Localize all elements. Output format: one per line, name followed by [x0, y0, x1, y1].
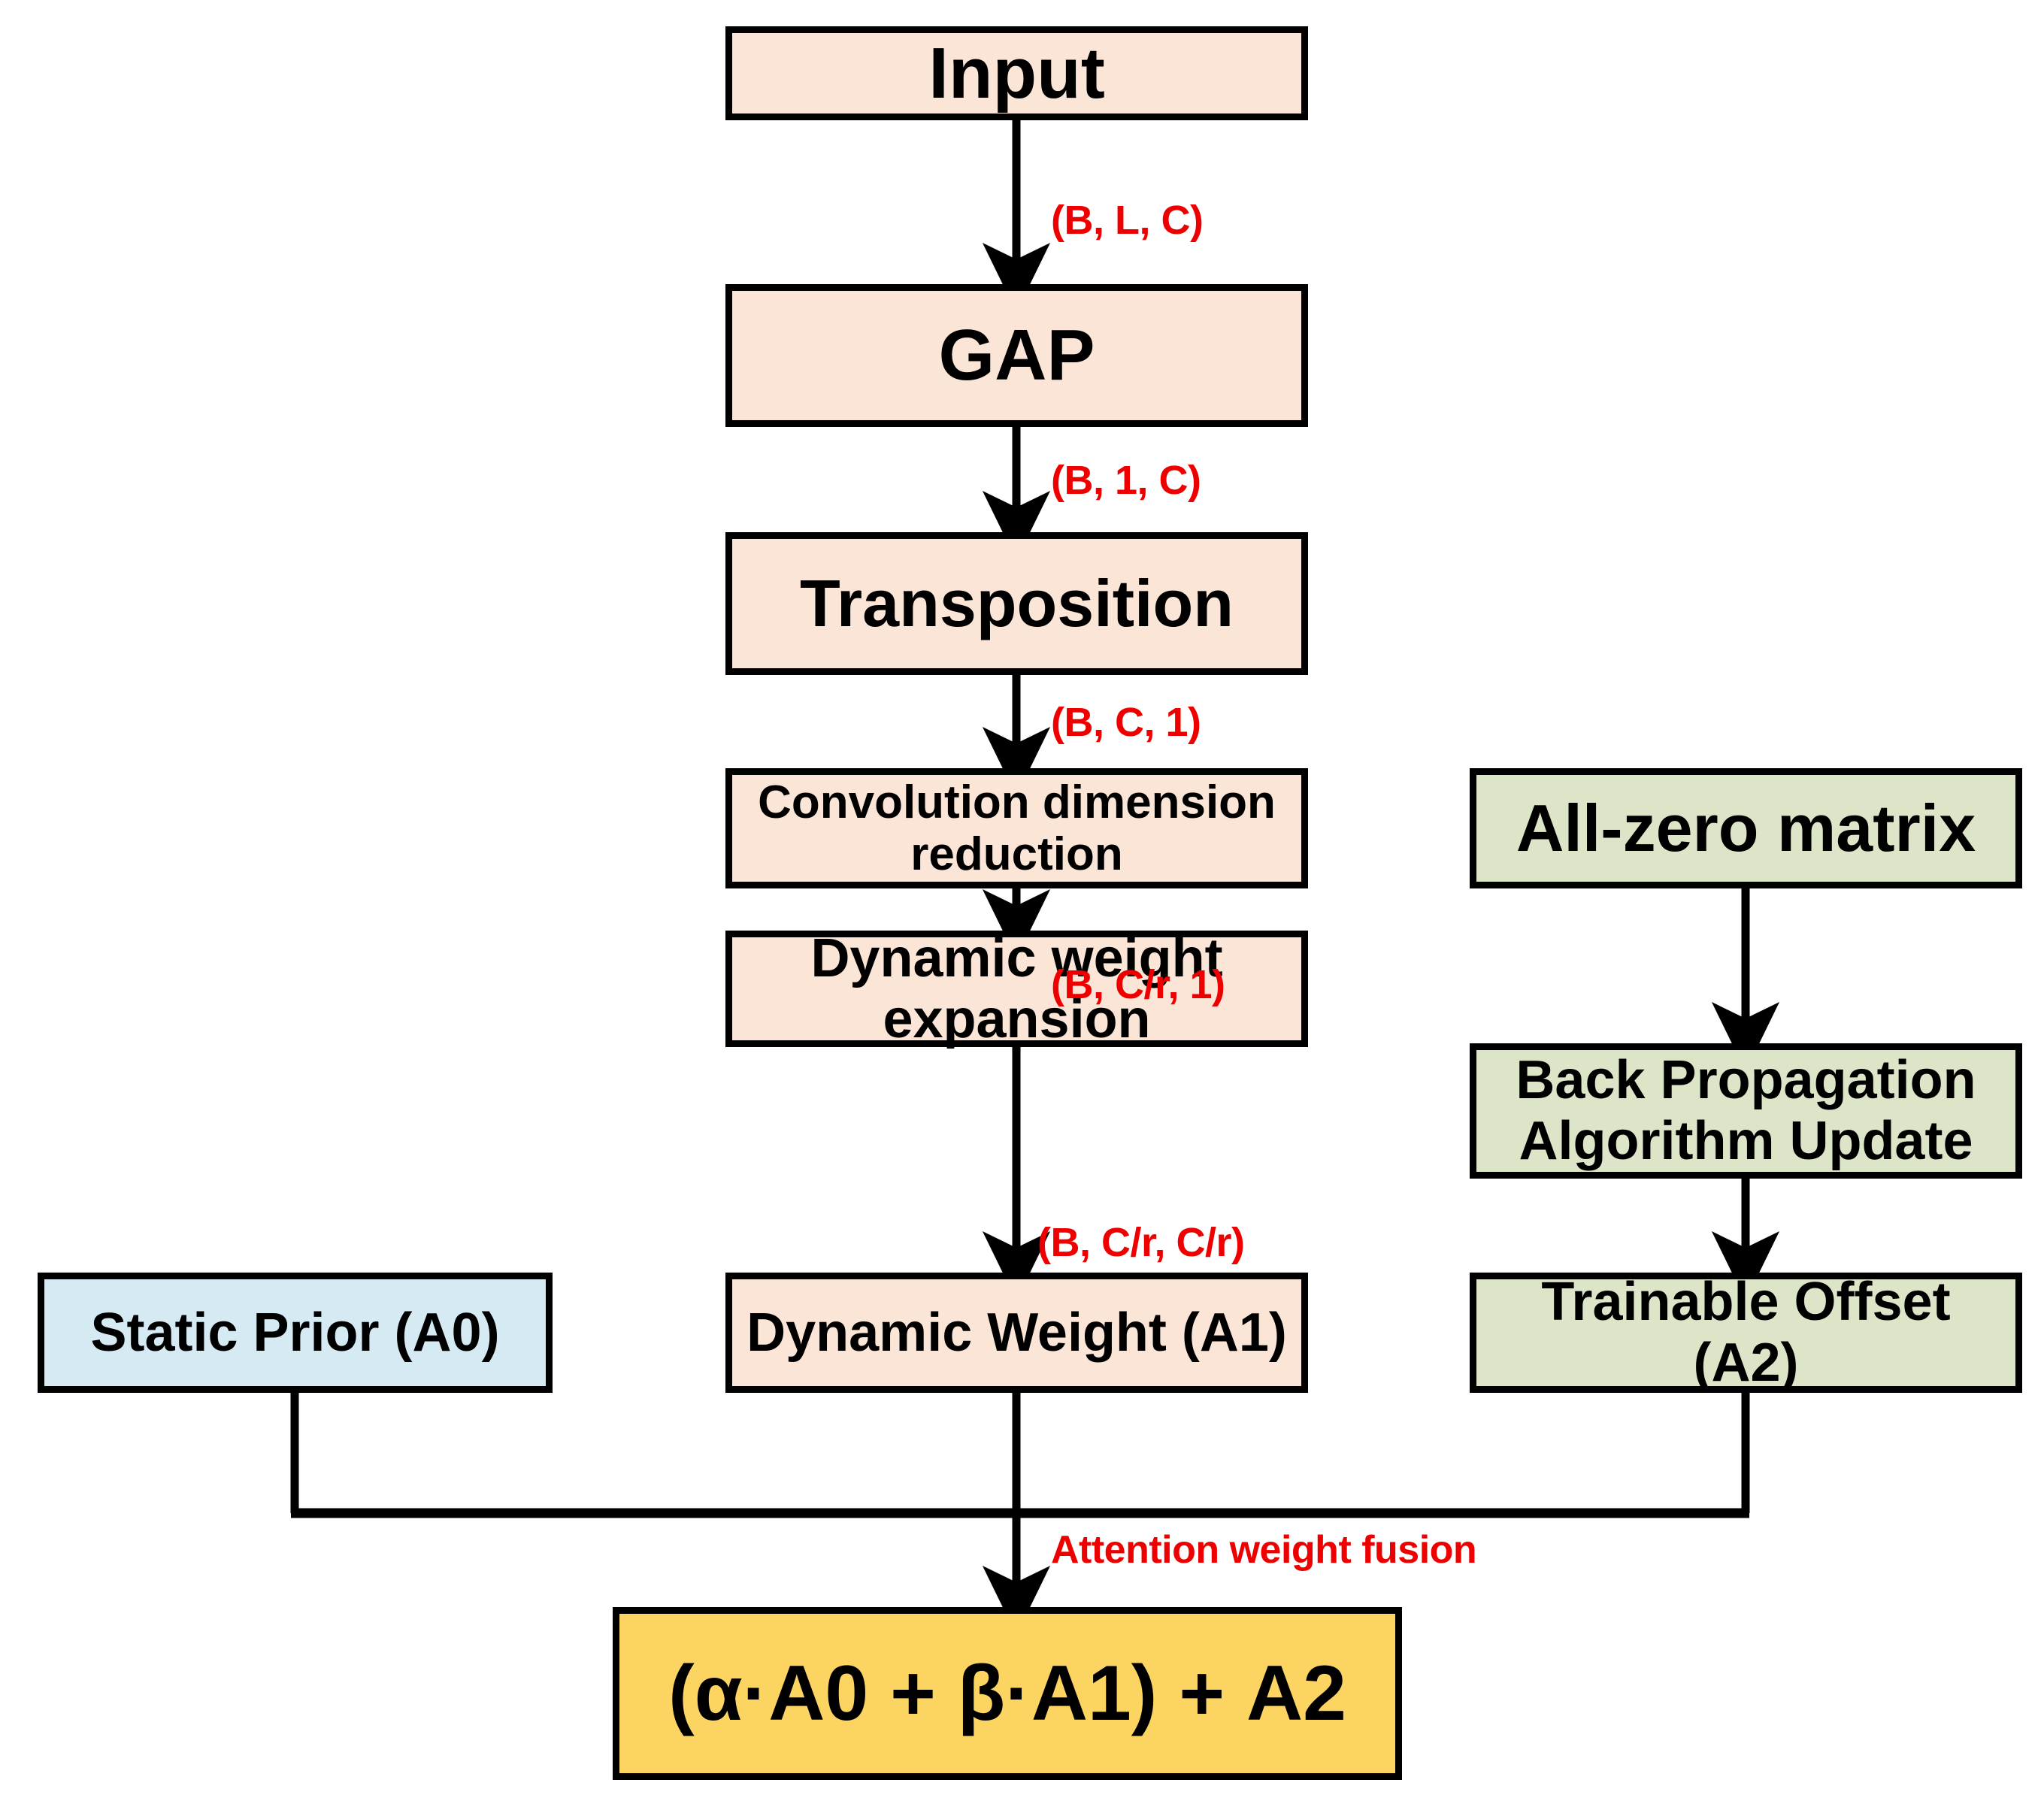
node-static-prior-a0-label: Static Prior (A0)	[90, 1303, 499, 1364]
node-gap[interactable]: GAP	[725, 284, 1308, 427]
node-dynamic-weight-a1[interactable]: Dynamic Weight (A1)	[725, 1273, 1308, 1393]
edge-label-expansion-to-a1: (B, C/r, C/r)	[1037, 1219, 1245, 1266]
node-trainable-offset-a2-label: Trainable Offset (A2)	[1484, 1272, 2008, 1393]
node-trainable-offset-a2[interactable]: Trainable Offset (A2)	[1470, 1273, 2022, 1393]
node-back-propagation-update-label: Back Propagation Algorithm Update	[1484, 1050, 2008, 1171]
edge-label-attention-weight-fusion: Attention weight fusion	[1051, 1527, 1476, 1572]
node-gap-label: GAP	[938, 315, 1095, 396]
node-input[interactable]: Input	[725, 26, 1308, 120]
node-all-zero-matrix-label: All-zero matrix	[1516, 792, 1976, 866]
edge-label-transposition-to-conv: (B, C, 1)	[1051, 699, 1201, 746]
node-fusion-result-label: (α·A0 + β·A1) + A2	[668, 1650, 1346, 1737]
node-back-propagation-update[interactable]: Back Propagation Algorithm Update	[1470, 1043, 2022, 1179]
node-dynamic-weight-a1-label: Dynamic Weight (A1)	[746, 1303, 1287, 1364]
node-transposition[interactable]: Transposition	[725, 532, 1308, 675]
edge-label-input-to-gap: (B, L, C)	[1051, 197, 1203, 244]
node-all-zero-matrix[interactable]: All-zero matrix	[1470, 768, 2022, 888]
node-transposition-label: Transposition	[800, 567, 1234, 641]
edge-label-gap-to-transposition: (B, 1, C)	[1051, 457, 1201, 504]
node-static-prior-a0[interactable]: Static Prior (A0)	[38, 1273, 553, 1393]
node-input-label: Input	[928, 33, 1105, 114]
node-convolution-dimension-reduction-label: Convolution dimension reduction	[740, 776, 1294, 881]
connector-layer	[0, 0, 2044, 1807]
node-fusion-result[interactable]: (α·A0 + β·A1) + A2	[613, 1607, 1402, 1780]
diagram-canvas: Input GAP Transposition Convolution dime…	[0, 0, 2044, 1807]
node-convolution-dimension-reduction[interactable]: Convolution dimension reduction	[725, 768, 1308, 888]
edge-label-conv-to-expansion: (B, C/r, 1)	[1051, 961, 1225, 1008]
